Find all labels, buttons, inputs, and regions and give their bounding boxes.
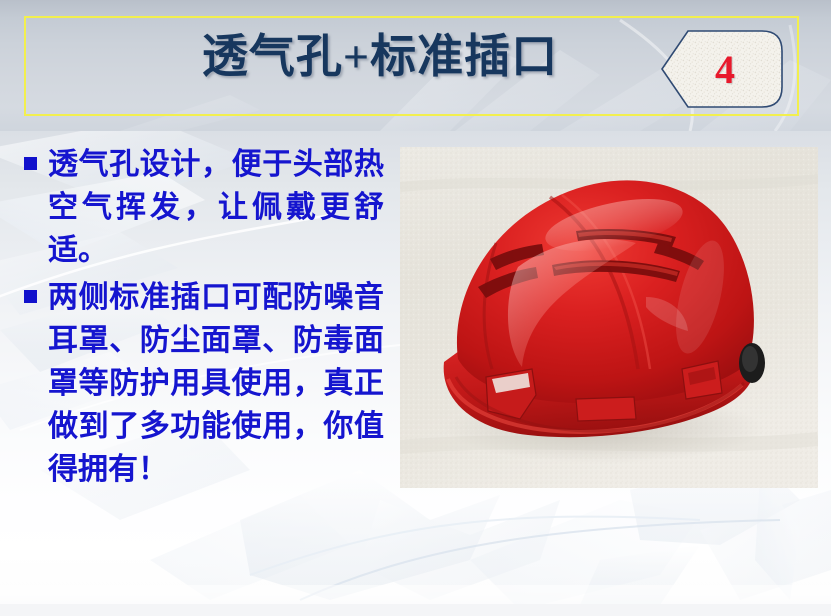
list-item: 透气孔设计，便于头部热空气挥发，让佩戴更舒适。 (24, 143, 384, 272)
page-title: 透气孔+标准插口 (120, 28, 640, 86)
bullet-text: 两侧标准插口可配防噪音耳罩、防尘面罩、防毒面罩等防护用具使用，真正做到了多功能使… (48, 276, 384, 491)
bullet-text: 透气孔设计，便于头部热空气挥发，让佩戴更舒适。 (48, 143, 384, 272)
slide-title-band: 透气孔+标准插口 4 (0, 0, 831, 131)
list-item: 两侧标准插口可配防噪音耳罩、防尘面罩、防毒面罩等防护用具使用，真正做到了多功能使… (24, 276, 384, 491)
section-number-badge: 4 (658, 29, 786, 109)
square-bullet-icon (24, 290, 37, 303)
red-safety-helmet-image (400, 147, 818, 488)
presentation-slide: 透气孔+标准插口 4 透气孔设计，便于头部热空气挥发 (0, 0, 831, 616)
square-bullet-icon (24, 157, 37, 170)
bullet-list: 透气孔设计，便于头部热空气挥发，让佩戴更舒适。 两侧标准插口可配防噪音耳罩、防尘… (24, 143, 384, 495)
section-number-label: 4 (658, 29, 786, 109)
helmet-photo (400, 147, 818, 488)
